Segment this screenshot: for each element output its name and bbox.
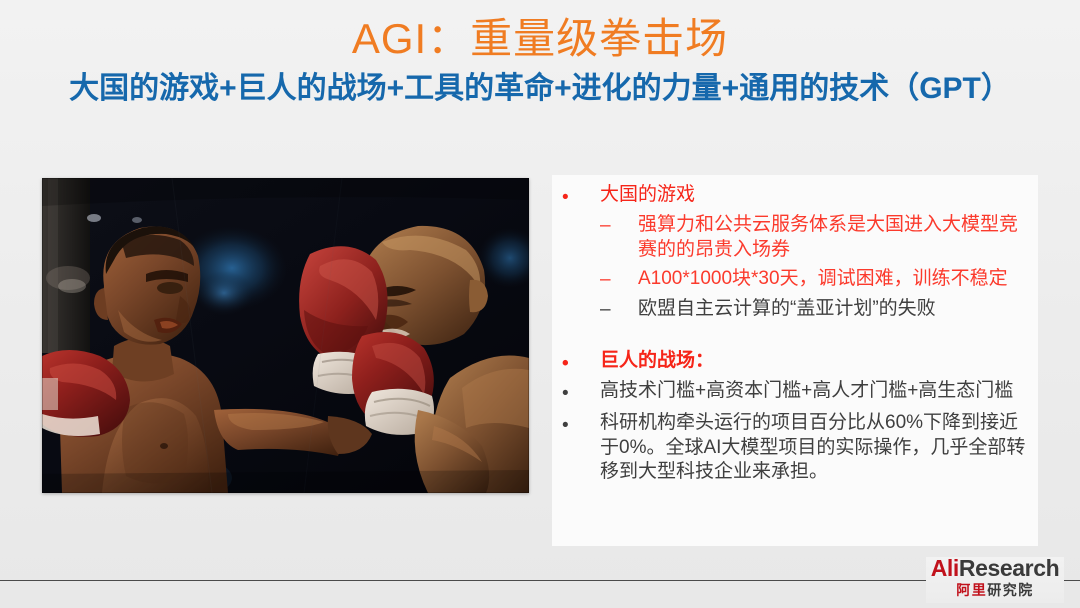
content-panel: • 大国的游戏 – 强算力和公共云服务体系是大国进入大模型竞赛的的昂贵入场券 –… [552,175,1038,546]
logo-main-text: AliResearch [926,557,1064,580]
logo-ali-chinese: 阿里 [956,582,987,598]
photo-illustration [42,178,529,493]
logo-ali-text: Ali [931,555,959,581]
boxing-match-photo [42,178,529,493]
list-item: • 高技术门槛+高资本门槛+高人才门槛+高生态门槛 [562,379,1032,406]
list-item: • 科研机构牵头运行的项目百分比从60%下降到接近于0%。全球AI大模型项目的实… [562,411,1032,484]
list-item-text: 欧盟自主云计算的“盖亚计划”的失败 [638,297,1032,321]
logo-chinese-text: 阿里研究院 [926,583,1064,597]
bullet-marker: – [600,297,638,322]
page-subtitle: 大国的游戏+巨人的战场+工具的革命+进化的力量+通用的技术（GPT） [0,71,1080,107]
presentation-slide: AGI：重量级拳击场 大国的游戏+巨人的战场+工具的革命+进化的力量+通用的技术… [0,0,1080,608]
footer-divider [0,580,1080,581]
bullet-list: • 大国的游戏 – 强算力和公共云服务体系是大国进入大模型竞赛的的昂贵入场券 –… [562,183,1032,484]
bullet-marker: • [562,379,600,406]
bullet-marker: • [562,349,600,376]
logo-research-chinese: 研究院 [987,582,1034,598]
list-item-text: 大国的游戏 [600,183,1032,207]
bullet-marker: • [562,183,600,210]
list-item-text: 高技术门槛+高资本门槛+高人才门槛+高生态门槛 [600,379,1032,403]
list-item-text: 巨人的战场： [600,349,1032,373]
list-item: • 巨人的战场： [562,349,1032,376]
list-item-text: A100*1000块*30天，调试困难，训练不稳定 [638,267,1032,291]
list-item-text: 科研机构牵头运行的项目百分比从60%下降到接近于0%。全球AI大模型项目的实际操… [600,411,1032,484]
list-item: – A100*1000块*30天，调试困难，训练不稳定 [562,267,1032,292]
page-title: AGI：重量级拳击场 [0,14,1080,64]
list-item: • 大国的游戏 [562,183,1032,210]
bullet-marker: – [600,213,638,238]
ali-research-logo: AliResearch 阿里研究院 [926,557,1064,603]
list-item: – 强算力和公共云服务体系是大国进入大模型竞赛的的昂贵入场券 [562,213,1032,262]
bullet-marker: – [600,267,638,292]
logo-research-text: Research [959,555,1059,581]
list-item: – 欧盟自主云计算的“盖亚计划”的失败 [562,297,1032,322]
list-item-text: 强算力和公共云服务体系是大国进入大模型竞赛的的昂贵入场券 [638,213,1032,262]
bullet-marker: • [562,411,600,438]
title-block: AGI：重量级拳击场 大国的游戏+巨人的战场+工具的革命+进化的力量+通用的技术… [0,14,1080,107]
